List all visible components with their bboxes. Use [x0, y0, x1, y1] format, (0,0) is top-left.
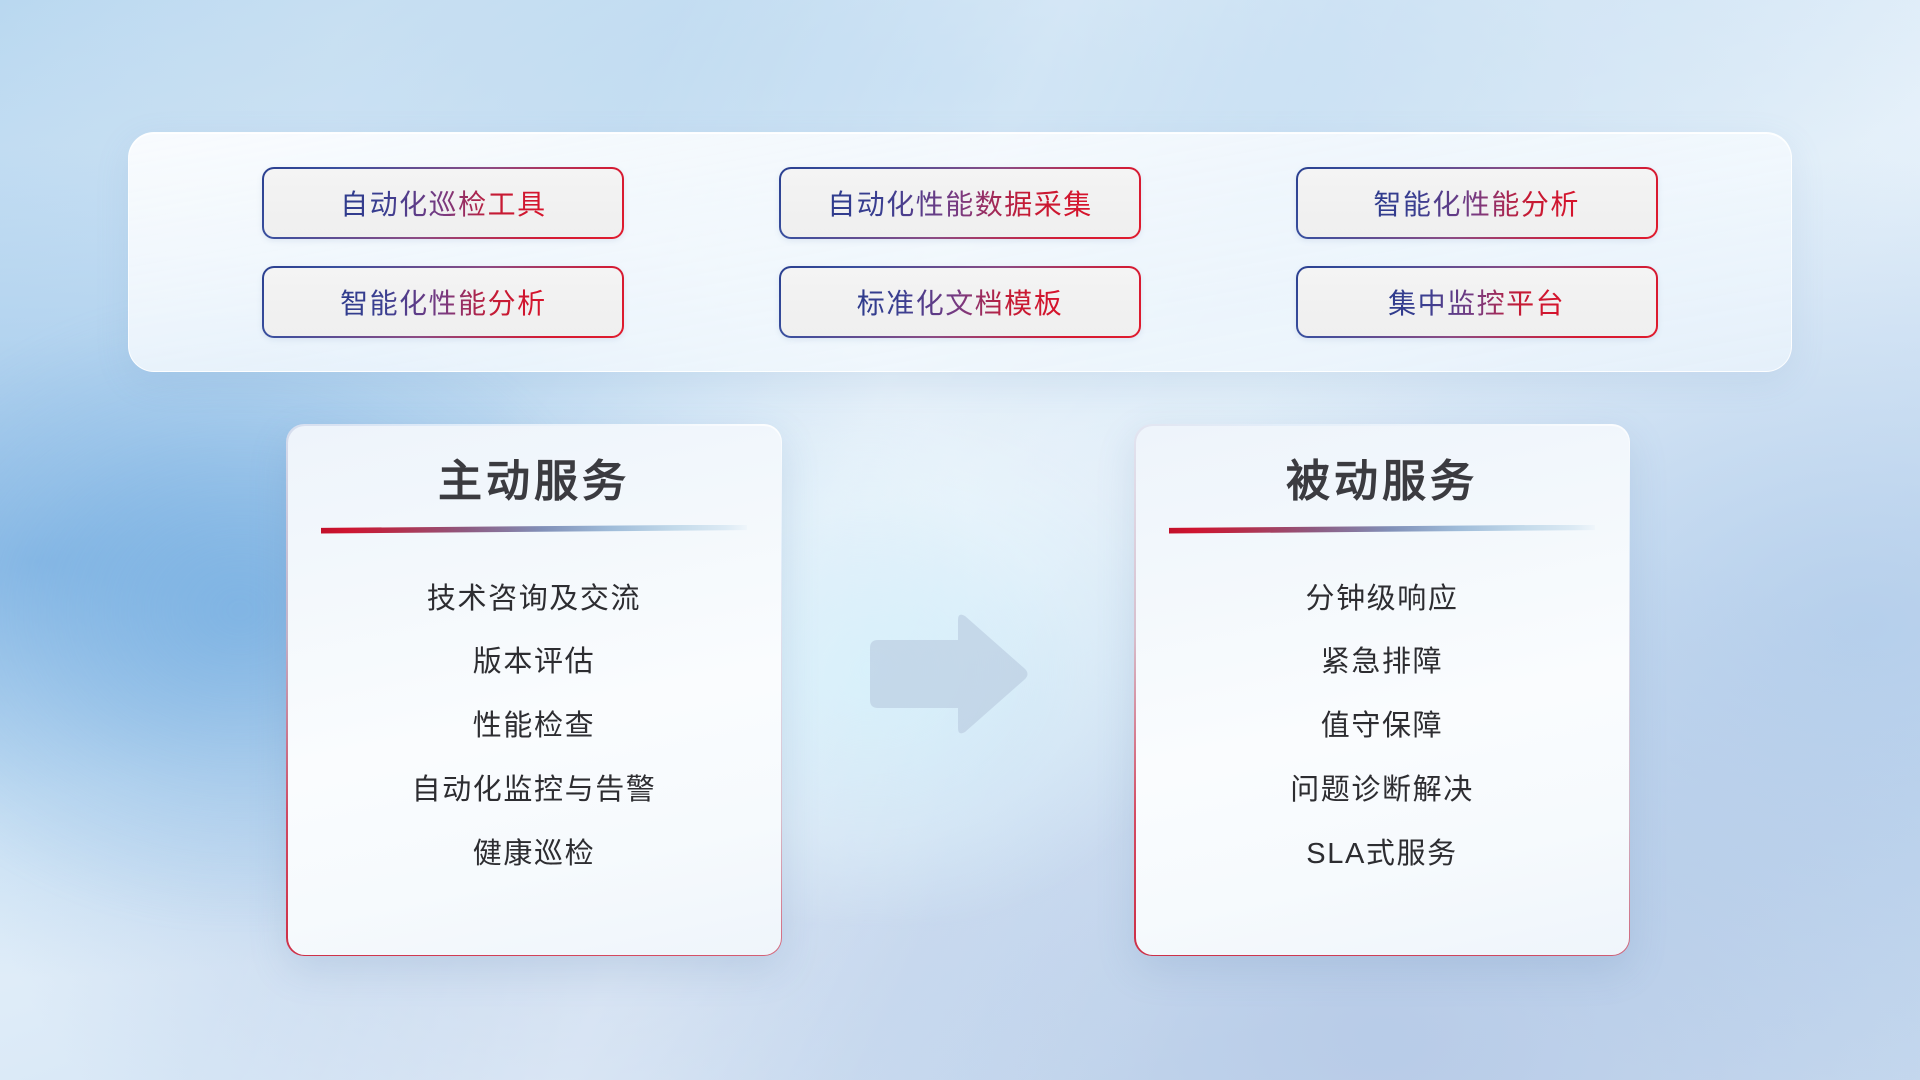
card-list: 分钟级响应 紧急排障 值守保障 问题诊断解决 SLA式服务 — [1136, 568, 1629, 887]
capability-tag[interactable]: 自动化性能数据采集 — [779, 167, 1141, 239]
card-divider-bar — [321, 525, 747, 534]
list-item: 健康巡检 — [473, 823, 595, 887]
list-item: 紧急排障 — [1321, 631, 1443, 695]
capability-panel: 自动化巡检工具 自动化性能数据采集 智能化性能分析 智能化性能分析 标准化文档模… — [128, 132, 1792, 372]
capability-tag-inner: 集中监控平台 — [1298, 268, 1656, 336]
card-title: 被动服务 — [1286, 454, 1478, 509]
capability-tag[interactable]: 智能化性能分析 — [262, 266, 624, 338]
capability-tag-label: 集中监控平台 — [1388, 282, 1565, 322]
list-item: 技术咨询及交流 — [427, 568, 641, 632]
capability-tag-label: 标准化文档模板 — [857, 282, 1064, 322]
capability-tag[interactable]: 集中监控平台 — [1296, 266, 1658, 338]
capability-tag-inner: 标准化文档模板 — [781, 268, 1139, 336]
card-divider — [321, 525, 747, 534]
capability-tag-inner: 智能化性能分析 — [1298, 169, 1656, 237]
capability-tag-inner: 智能化性能分析 — [264, 268, 622, 336]
service-card-passive: 被动服务 分钟级响应 紧急排障 值守保障 问题诊断解决 SLA式服务 — [1134, 424, 1630, 956]
capability-tag-label: 自动化性能数据采集 — [827, 183, 1093, 223]
capability-tag[interactable]: 智能化性能分析 — [1296, 167, 1658, 239]
capability-tag-label: 自动化巡检工具 — [340, 183, 547, 223]
list-item: 自动化监控与告警 — [412, 759, 657, 823]
service-card-body: 被动服务 分钟级响应 紧急排障 值守保障 问题诊断解决 SLA式服务 — [1136, 426, 1629, 955]
list-item: 版本评估 — [473, 631, 595, 695]
capability-tag[interactable]: 自动化巡检工具 — [262, 167, 624, 239]
capability-tag-inner: 自动化性能数据采集 — [781, 169, 1139, 237]
capability-tag-grid: 自动化巡检工具 自动化性能数据采集 智能化性能分析 智能化性能分析 标准化文档模… — [129, 133, 1791, 371]
capability-tag-label: 智能化性能分析 — [1373, 183, 1580, 223]
service-card-body: 主动服务 技术咨询及交流 版本评估 性能检查 自动化监控与告警 健康巡检 — [288, 426, 781, 955]
capability-tag-inner: 自动化巡检工具 — [264, 169, 622, 237]
list-item: 值守保障 — [1321, 695, 1443, 759]
right-arrow-icon — [862, 610, 1032, 738]
card-list: 技术咨询及交流 版本评估 性能检查 自动化监控与告警 健康巡检 — [288, 568, 781, 887]
list-item: SLA式服务 — [1306, 823, 1457, 887]
list-item: 分钟级响应 — [1305, 568, 1458, 632]
list-item: 问题诊断解决 — [1290, 759, 1474, 823]
capability-tag-label: 智能化性能分析 — [340, 282, 547, 322]
card-title: 主动服务 — [438, 454, 630, 509]
service-card-active: 主动服务 技术咨询及交流 版本评估 性能检查 自动化监控与告警 健康巡检 — [286, 424, 782, 956]
capability-tag[interactable]: 标准化文档模板 — [779, 266, 1141, 338]
list-item: 性能检查 — [473, 695, 595, 759]
card-divider — [1169, 525, 1595, 534]
card-divider-bar — [1169, 525, 1595, 534]
